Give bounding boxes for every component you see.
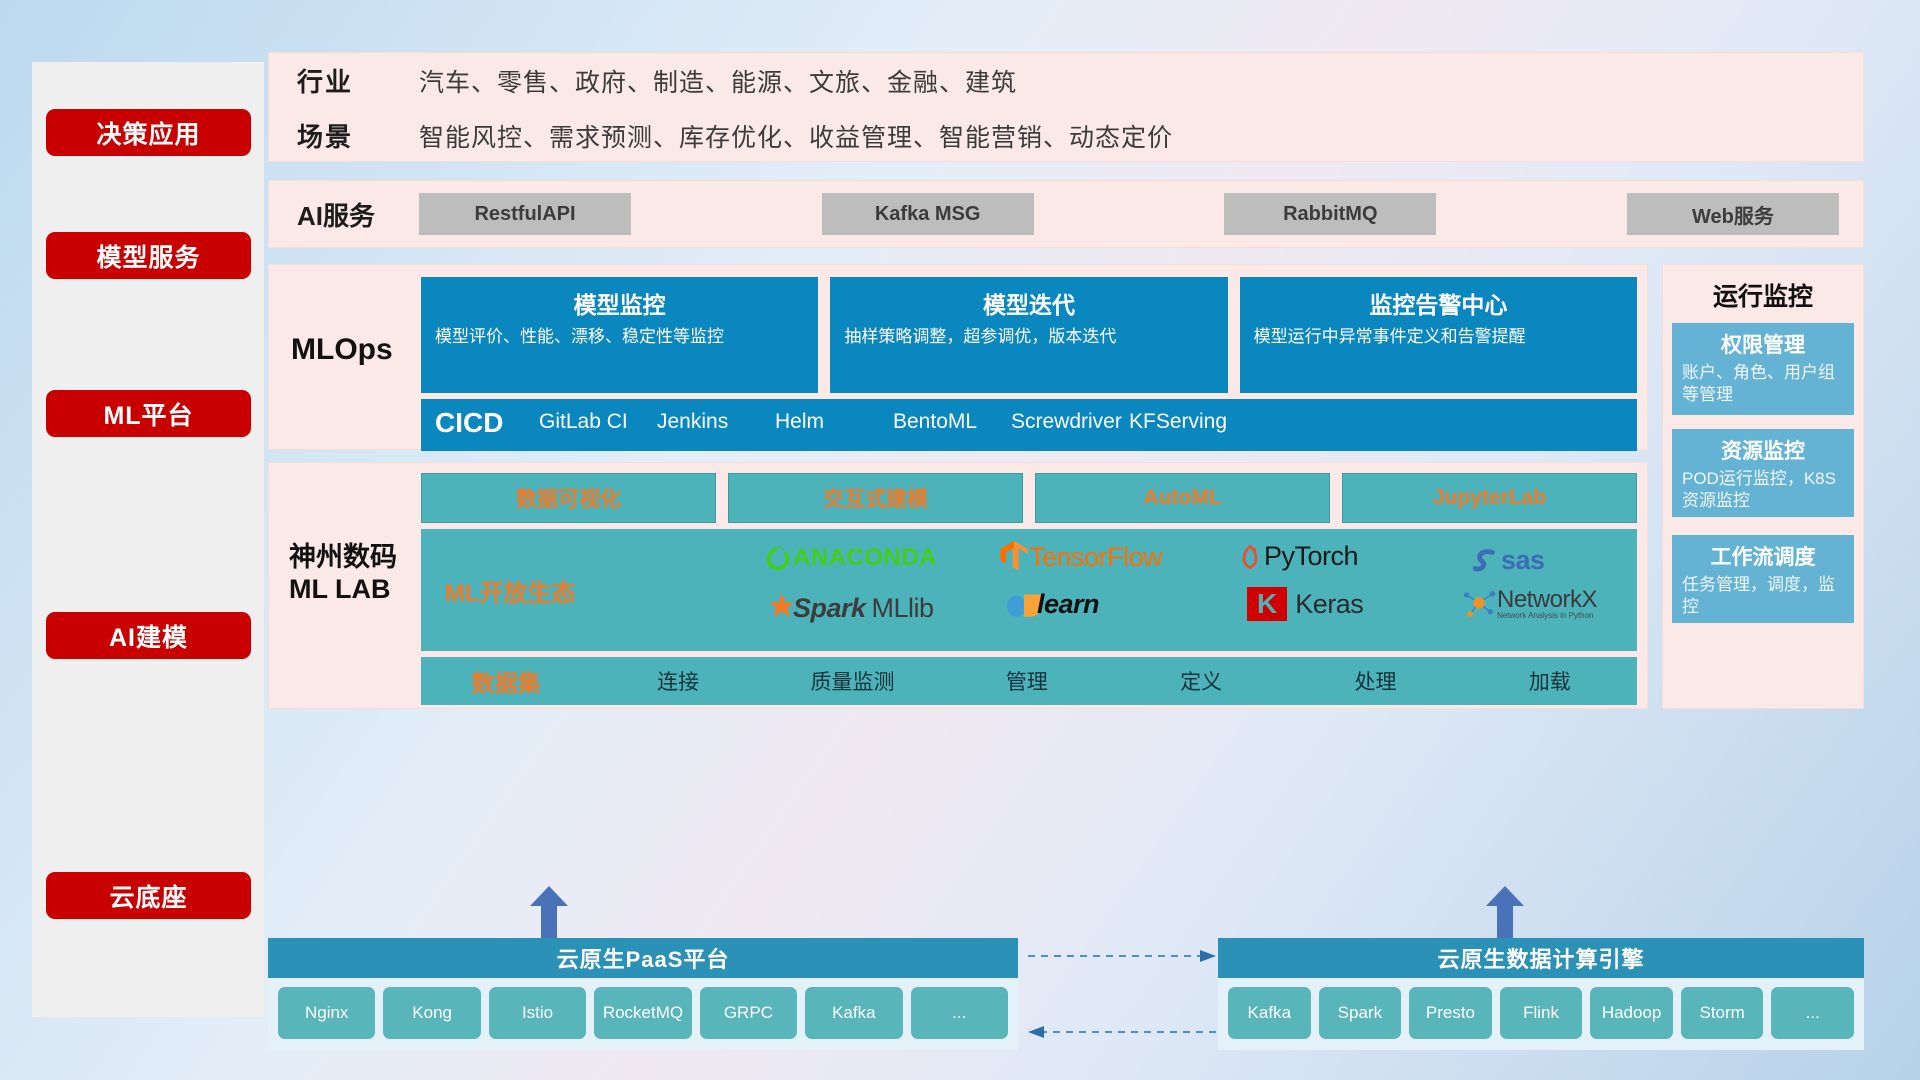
monitor-card-resource[interactable]: 资源监控 POD运行监控，K8S资源监控 bbox=[1672, 429, 1854, 517]
ml-open-ecosystem-box: ML开放生态 ANACONDA T bbox=[421, 529, 1637, 651]
dataset-item-connect[interactable]: 连接 bbox=[591, 666, 765, 696]
ai-service-chip-list: RestfulAPI Kafka MSG RabbitMQ Web服务 bbox=[419, 193, 1863, 235]
dataset-item-process[interactable]: 处理 bbox=[1288, 666, 1462, 696]
dataset-item-quality-monitor[interactable]: 质量监测 bbox=[765, 666, 939, 696]
mlops-card-title: 监控告警中心 bbox=[1254, 286, 1623, 320]
ml-lab-label: 神州数码 ML LAB bbox=[289, 541, 424, 606]
cicd-item-jenkins[interactable]: Jenkins bbox=[657, 399, 775, 435]
spark-mllib-logo: Spark MLlib bbox=[759, 591, 934, 625]
networkx-icon bbox=[1461, 587, 1497, 621]
monitor-card-desc: 账户、角色、用户组等管理 bbox=[1682, 362, 1844, 406]
networkx-logo-text: NetworkX bbox=[1497, 588, 1597, 612]
keras-icon: K bbox=[1247, 587, 1287, 621]
mlops-label: MLOps bbox=[291, 333, 421, 367]
architecture-main: 行业 汽车、零售、政府、制造、能源、文旅、金融、建筑 场景 智能风控、需求预测、… bbox=[268, 0, 1920, 1080]
rail-chip-cloud-base[interactable]: 云底座 bbox=[46, 872, 251, 919]
ai-modeling-band: 神州数码 ML LAB 数据可视化 交互式建模 AutoML JupyterLa… bbox=[268, 462, 1648, 709]
cicd-item-bentoml[interactable]: BentoML bbox=[893, 399, 1011, 435]
ai-service-band: AI服务 RestfulAPI Kafka MSG RabbitMQ Web服务 bbox=[268, 180, 1864, 248]
dataset-title: 数据集 bbox=[421, 664, 591, 698]
cicd-item-gitlab-ci[interactable]: GitLab CI bbox=[539, 399, 657, 435]
dataset-item-list: 连接 质量监测 管理 定义 处理 加载 bbox=[591, 666, 1637, 696]
spark-icon bbox=[759, 591, 793, 625]
dataset-item-load[interactable]: 加载 bbox=[1463, 666, 1637, 696]
monitor-card-workflow[interactable]: 工作流调度 任务管理，调度，监控 bbox=[1672, 535, 1854, 623]
dashed-arrow-left-icon bbox=[1028, 1026, 1216, 1038]
tensorflow-icon bbox=[999, 541, 1029, 573]
mlops-card-alert-center[interactable]: 监控告警中心 模型运行中异常事件定义和告警提醒 bbox=[1240, 277, 1637, 393]
anaconda-logo-text: ANACONDA bbox=[793, 544, 937, 572]
monitor-card-permission[interactable]: 权限管理 账户、角色、用户组等管理 bbox=[1672, 323, 1854, 415]
mlops-card-title: 模型迭代 bbox=[844, 286, 1213, 320]
data-chip-storm[interactable]: Storm bbox=[1681, 987, 1764, 1039]
cloud-native-paas-group: 云原生PaaS平台 Nginx Kong Istio RocketMQ GRPC… bbox=[268, 938, 1018, 1050]
mllib-logo-text: MLlib bbox=[872, 593, 934, 624]
cloud-native-data-engine-group: 云原生数据计算引擎 Kafka Spark Presto Flink Hadoo… bbox=[1218, 938, 1864, 1050]
run-monitor-band: 运行监控 权限管理 账户、角色、用户组等管理 资源监控 POD运行监控，K8S资… bbox=[1662, 264, 1864, 709]
networkx-tagline: Network Analysis in Python bbox=[1497, 612, 1597, 620]
ai-service-chip-restfulapi[interactable]: RestfulAPI bbox=[419, 193, 631, 235]
cicd-item-kfserving[interactable]: KFServing bbox=[1129, 399, 1247, 435]
mlops-card-model-iteration[interactable]: 模型迭代 抽样策略调整，超参调优，版本迭代 bbox=[830, 277, 1227, 393]
scenario-value: 智能风控、需求预测、库存优化、收益管理、智能营销、动态定价 bbox=[419, 118, 1173, 154]
industry-label: 行业 bbox=[297, 62, 419, 99]
cloud-chip-nginx[interactable]: Nginx bbox=[278, 987, 375, 1039]
cloud-chip-rocketmq[interactable]: RocketMQ bbox=[594, 987, 691, 1039]
cloud-chip-istio[interactable]: Istio bbox=[489, 987, 586, 1039]
cloud-native-paas-chip-list: Nginx Kong Istio RocketMQ GRPC Kafka ... bbox=[268, 978, 1018, 1048]
scikit-learn-logo-text: learn bbox=[1037, 589, 1099, 620]
cloud-chip-more[interactable]: ... bbox=[911, 987, 1008, 1039]
mlops-card-model-monitoring[interactable]: 模型监控 模型评价、性能、漂移、稳定性等监控 bbox=[421, 277, 818, 393]
sas-logo: sas bbox=[1471, 545, 1545, 576]
tensorflow-logo-text: TensorFlow bbox=[1029, 542, 1162, 573]
pytorch-icon bbox=[1236, 542, 1264, 572]
cicd-title: CICD bbox=[421, 399, 539, 439]
mlops-card-list: 模型监控 模型评价、性能、漂移、稳定性等监控 模型迭代 抽样策略调整，超参调优，… bbox=[421, 277, 1637, 393]
sas-logo-text: sas bbox=[1501, 545, 1545, 576]
data-chip-more[interactable]: ... bbox=[1771, 987, 1854, 1039]
monitor-card-desc: POD运行监控，K8S资源监控 bbox=[1682, 468, 1844, 512]
data-chip-kafka[interactable]: Kafka bbox=[1228, 987, 1311, 1039]
scikit-learn-logo: learn bbox=[1007, 587, 1099, 621]
ai-service-chip-web-service[interactable]: Web服务 bbox=[1627, 193, 1839, 235]
ai-service-label: AI服务 bbox=[269, 196, 419, 233]
pytorch-logo-text: PyTorch bbox=[1264, 541, 1358, 572]
tensorflow-logo: TensorFlow bbox=[999, 541, 1162, 573]
industry-row: 行业 汽车、零售、政府、制造、能源、文旅、金融、建筑 bbox=[269, 53, 1863, 108]
up-arrow-paas-icon bbox=[530, 886, 568, 938]
modeling-tool-automl[interactable]: AutoML bbox=[1035, 473, 1330, 523]
ml-lab-label-line2: ML LAB bbox=[289, 573, 424, 605]
data-chip-spark[interactable]: Spark bbox=[1319, 987, 1402, 1039]
cicd-item-list: GitLab CI Jenkins Helm BentoML Screwdriv… bbox=[539, 399, 1637, 435]
data-chip-flink[interactable]: Flink bbox=[1500, 987, 1583, 1039]
rail-chip-decision-app[interactable]: 决策应用 bbox=[46, 109, 251, 156]
cloud-chip-kong[interactable]: Kong bbox=[383, 987, 480, 1039]
scenario-row: 场景 智能风控、需求预测、库存优化、收益管理、智能营销、动态定价 bbox=[269, 108, 1863, 163]
data-chip-hadoop[interactable]: Hadoop bbox=[1590, 987, 1673, 1039]
monitor-card-title: 资源监控 bbox=[1682, 435, 1844, 465]
cicd-item-helm[interactable]: Helm bbox=[775, 399, 893, 435]
pytorch-logo: PyTorch bbox=[1236, 541, 1358, 572]
cicd-bar: CICD GitLab CI Jenkins Helm BentoML Scre… bbox=[421, 399, 1637, 451]
monitor-card-desc: 任务管理，调度，监控 bbox=[1682, 574, 1844, 618]
ml-open-ecosystem-label: ML开放生态 bbox=[421, 573, 599, 608]
up-arrow-data-engine-icon bbox=[1486, 886, 1524, 938]
rail-chip-ml-platform[interactable]: ML平台 bbox=[46, 390, 251, 437]
mlops-band: MLOps 模型监控 模型评价、性能、漂移、稳定性等监控 模型迭代 抽样策略调整… bbox=[268, 264, 1648, 450]
cloud-chip-grpc[interactable]: GRPC bbox=[700, 987, 797, 1039]
mlops-card-desc: 模型评价、性能、漂移、稳定性等监控 bbox=[435, 326, 804, 349]
cicd-item-screwdriver[interactable]: Screwdriver bbox=[1011, 399, 1129, 435]
rail-chip-model-service[interactable]: 模型服务 bbox=[46, 232, 251, 279]
rail-chip-ai-modeling[interactable]: AI建模 bbox=[46, 612, 251, 659]
mlops-card-title: 模型监控 bbox=[435, 286, 804, 320]
monitor-card-title: 权限管理 bbox=[1682, 329, 1844, 359]
dataset-item-manage[interactable]: 管理 bbox=[940, 666, 1114, 696]
cloud-native-paas-title: 云原生PaaS平台 bbox=[268, 938, 1018, 978]
cloud-chip-kafka[interactable]: Kafka bbox=[805, 987, 902, 1039]
keras-logo: K Keras bbox=[1247, 587, 1363, 621]
ai-service-chip-rabbitmq[interactable]: RabbitMQ bbox=[1224, 193, 1436, 235]
decision-app-band: 行业 汽车、零售、政府、制造、能源、文旅、金融、建筑 场景 智能风控、需求预测、… bbox=[268, 52, 1864, 162]
networkx-logo: NetworkX Network Analysis in Python bbox=[1461, 587, 1597, 621]
dataset-item-define[interactable]: 定义 bbox=[1114, 666, 1288, 696]
modeling-tool-data-visualization[interactable]: 数据可视化 bbox=[421, 473, 716, 523]
scenario-label: 场景 bbox=[297, 117, 419, 154]
anaconda-logo: ANACONDA bbox=[763, 543, 937, 573]
cloud-native-data-engine-chip-list: Kafka Spark Presto Flink Hadoop Storm ..… bbox=[1218, 978, 1864, 1048]
monitor-card-title: 工作流调度 bbox=[1682, 541, 1844, 571]
modeling-tool-list: 数据可视化 交互式建模 AutoML JupyterLab bbox=[421, 473, 1637, 523]
sas-icon bbox=[1471, 547, 1501, 575]
ai-service-chip-kafka-msg[interactable]: Kafka MSG bbox=[822, 193, 1034, 235]
industry-value: 汽车、零售、政府、制造、能源、文旅、金融、建筑 bbox=[419, 63, 1017, 99]
ecosystem-logo-area: ANACONDA TensorFlow PyTorch bbox=[599, 529, 1637, 651]
layer-label-rail: 决策应用 模型服务 ML平台 AI建模 云底座 bbox=[32, 62, 264, 1017]
data-chip-presto[interactable]: Presto bbox=[1409, 987, 1492, 1039]
dataset-bar: 数据集 连接 质量监测 管理 定义 处理 加载 bbox=[421, 657, 1637, 705]
anaconda-icon bbox=[763, 543, 793, 573]
modeling-tool-interactive-modeling[interactable]: 交互式建模 bbox=[728, 473, 1023, 523]
mlops-card-desc: 模型运行中异常事件定义和告警提醒 bbox=[1254, 326, 1623, 349]
run-monitor-title: 运行监控 bbox=[1663, 265, 1863, 313]
mlops-card-desc: 抽样策略调整，超参调优，版本迭代 bbox=[844, 326, 1213, 349]
ml-lab-label-line1: 神州数码 bbox=[289, 541, 424, 573]
keras-logo-text: Keras bbox=[1295, 589, 1363, 620]
modeling-tool-jupyterlab[interactable]: JupyterLab bbox=[1342, 473, 1637, 523]
cloud-native-data-engine-title: 云原生数据计算引擎 bbox=[1218, 938, 1864, 978]
dashed-arrow-right-icon bbox=[1028, 950, 1216, 962]
spark-logo-text: Spark bbox=[793, 593, 866, 624]
